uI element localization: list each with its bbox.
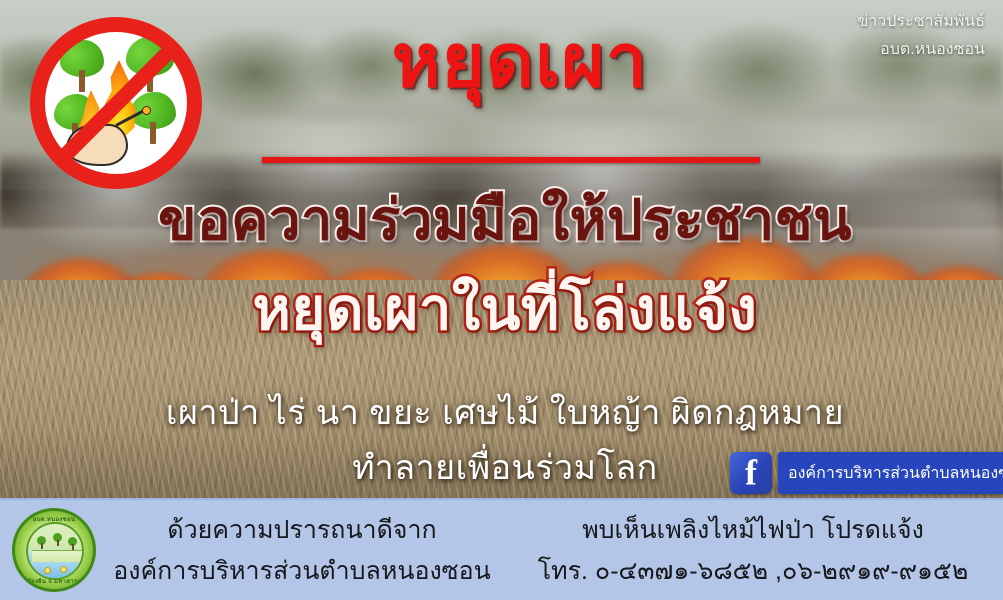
facebook-badge[interactable]: องค์การบริหารส่วนตำบลหนองซอน <box>730 452 1003 494</box>
footer-bar: อบต.หนองซอน อ.เชียงยืน จ.มหาสารคาม ด้วยค… <box>0 498 1003 600</box>
municipal-seal-icon: อบต.หนองซอน อ.เชียงยืน จ.มหาสารคาม <box>12 508 96 592</box>
footer-right-text: พบเห็นเพลิงไหม้ไฟป่า โปรดแจ้ง โทร. ๐-๔๓๗… <box>510 510 996 591</box>
footer-left-line-1: ด้วยความปรารถนาดีจาก <box>104 510 500 551</box>
subtext-line-1: เผาป่า ไร่ นา ขยะ เศษไม้ ใบหญ้า ผิดกฎหมา… <box>40 385 970 439</box>
footer-contact-phone: โทร. ๐-๔๓๗๑-๖๘๕๒ ,๐๖-๒๙๑๙-๙๑๕๒ <box>510 551 996 592</box>
poster-headline: หยุดเผา <box>240 22 800 100</box>
headline-divider <box>262 157 760 163</box>
facebook-icon[interactable] <box>730 452 772 494</box>
announcement-caption: ข่าวประชาสัมพันธ์ อบต.หนองซอน <box>857 8 985 64</box>
footer-left-line-2: องค์การบริหารส่วนตำบลหนองซอน <box>104 551 500 592</box>
caption-line-2: อบต.หนองซอน <box>857 36 985 64</box>
caption-line-1: ข่าวประชาสัมพันธ์ <box>857 8 985 36</box>
no-burning-icon <box>18 12 218 197</box>
seal-text-bottom: อ.เชียงยืน จ.มหาสารคาม <box>15 577 93 586</box>
message-line-2: หยุดเผาในที่โล่งแจ้ง <box>60 276 950 343</box>
seal-text: อบต.หนองซอน อ.เชียงยืน จ.มหาสารคาม <box>15 511 93 589</box>
message-line-1: ขอความร่วมมือให้ประชาชน <box>60 188 950 253</box>
footer-right-line-1: พบเห็นเพลิงไหม้ไฟป่า โปรดแจ้ง <box>510 510 996 551</box>
facebook-page-name[interactable]: องค์การบริหารส่วนตำบลหนองซอน <box>778 452 1003 494</box>
seal-text-top: อบต.หนองซอน <box>15 515 93 524</box>
public-announcement-poster: ข่าวประชาสัมพันธ์ อบต.หนองซอน หยุดเผา ขอ… <box>0 0 1003 600</box>
footer-left-text: ด้วยความปรารถนาดีจาก องค์การบริหารส่วนตำ… <box>104 510 500 591</box>
